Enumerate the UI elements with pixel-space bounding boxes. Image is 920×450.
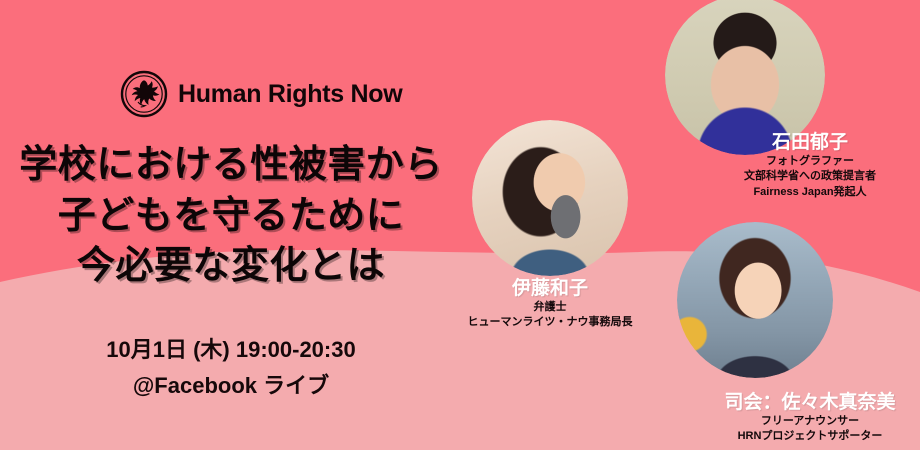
headline-line-3: 今必要な変化とは [0,241,462,292]
headline-line-2: 子どもを守るために [0,191,462,242]
speaker-caption-ishida: 石田郁子 フォトグラファー 文部科学省への政策提言者 Fairness Japa… [700,132,920,200]
speaker-caption-ito: 伊藤和子 弁護士 ヒューマンライツ・ナウ事務局長 [400,278,700,331]
brand-logo: Human Rights Now [120,70,402,118]
event-channel: @Facebook ライブ [0,371,462,401]
portrait-ito-kazuko [472,120,628,276]
speaker-role-ito-2: ヒューマンライツ・ナウ事務局長 [400,315,700,330]
hrn-circular-emblem-icon [120,70,168,118]
speaker-role-sasaki-2: HRNプロジェクトサポーター [700,429,920,444]
speaker-photo-ito [472,120,628,276]
speaker-name-ishida: 石田郁子 [700,132,920,154]
speaker-role-sasaki-1: フリーアナウンサー [700,414,920,429]
event-details: 10月1日 (木) 19:00-20:30 @Facebook ライブ [0,335,462,400]
headline-line-1: 学校における性被害から [0,140,462,191]
page-title: 学校における性被害から 子どもを守るために 今必要な変化とは [0,140,462,292]
speaker-name-ito: 伊藤和子 [400,278,700,300]
event-date: 10月1日 (木) 19:00-20:30 [0,335,462,365]
speaker-role-ishida-3: Fairness Japan発起人 [700,185,920,200]
speaker-caption-sasaki: 司会：佐々木真奈美 フリーアナウンサー HRNプロジェクトサポーター [700,392,920,445]
speaker-role-ishida-2: 文部科学省への政策提言者 [700,169,920,184]
event-poster: Human Rights Now 学校における性被害から 子どもを守るために 今… [0,0,920,450]
portrait-sasaki-manami [677,222,833,378]
speaker-name-sasaki: 司会：佐々木真奈美 [700,392,920,414]
speaker-photo-sasaki [677,222,833,378]
brand-name: Human Rights Now [178,82,402,107]
speaker-role-ito-1: 弁護士 [400,300,700,315]
speaker-role-ishida-1: フォトグラファー [700,154,920,169]
